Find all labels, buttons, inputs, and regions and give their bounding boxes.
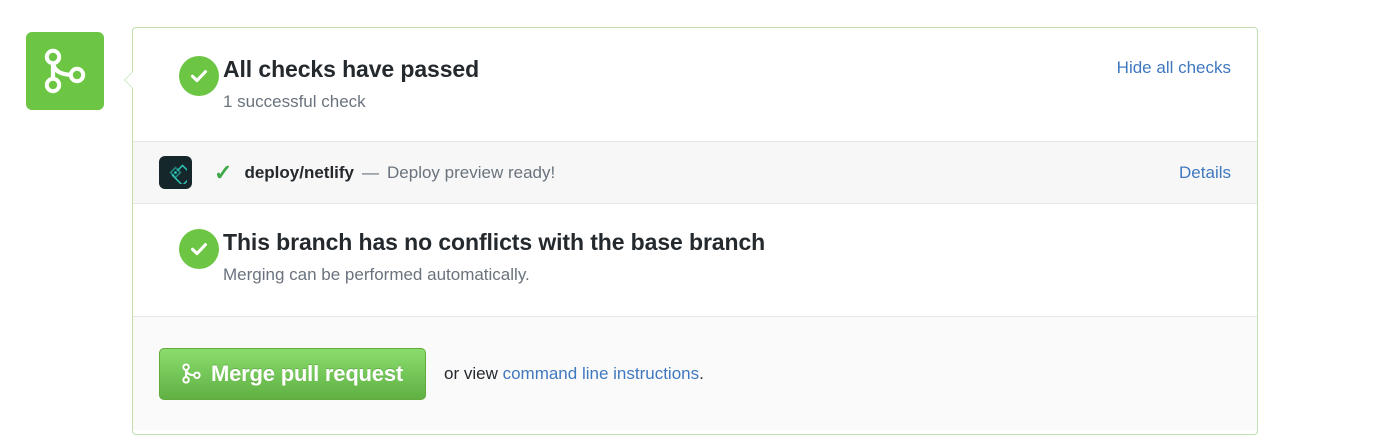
conflicts-title: This branch has no conflicts with the ba…: [223, 227, 1231, 257]
merge-status-badge: [26, 32, 104, 110]
conflicts-row: This branch has no conflicts with the ba…: [159, 227, 1231, 288]
check-circle-icon: [179, 56, 219, 96]
conflicts-section: This branch has no conflicts with the ba…: [133, 204, 1257, 316]
checks-summary-subtitle: 1 successful check: [223, 89, 1231, 115]
check-details-link[interactable]: Details: [1179, 163, 1231, 183]
check-icon: ✓: [214, 162, 232, 184]
check-description: Deploy preview ready!: [387, 163, 555, 183]
merge-action-section: Merge pull request or view command line …: [133, 316, 1257, 430]
or-view-label: or view: [444, 364, 503, 383]
checks-summary-section: All checks have passed 1 successful chec…: [133, 28, 1257, 141]
check-circle-icon: [179, 229, 219, 269]
merge-alternative-text: or view command line instructions.: [444, 364, 704, 384]
git-merge-icon: [182, 363, 211, 384]
check-separator: —: [362, 163, 379, 183]
git-merge-icon: [44, 48, 86, 94]
merge-button-label: Merge pull request: [211, 361, 403, 387]
command-line-instructions-link[interactable]: command line instructions: [503, 364, 700, 383]
merge-status-box: All checks have passed 1 successful chec…: [132, 27, 1258, 435]
merge-pull-request-button[interactable]: Merge pull request: [159, 348, 426, 400]
merge-box-screen: All checks have passed 1 successful chec…: [0, 0, 1388, 448]
hide-all-checks-link[interactable]: Hide all checks: [1117, 58, 1231, 78]
checks-summary-row: All checks have passed 1 successful chec…: [159, 54, 1231, 115]
check-context-label: deploy/netlify: [244, 163, 354, 183]
check-row-deploy-netlify: ✓ deploy/netlify — Deploy preview ready!…: [133, 141, 1257, 204]
checks-summary-title: All checks have passed: [223, 54, 1231, 84]
netlify-logo-icon: [159, 156, 192, 189]
trailing-period: .: [699, 364, 704, 383]
conflicts-subtitle: Merging can be performed automatically.: [223, 262, 1231, 288]
